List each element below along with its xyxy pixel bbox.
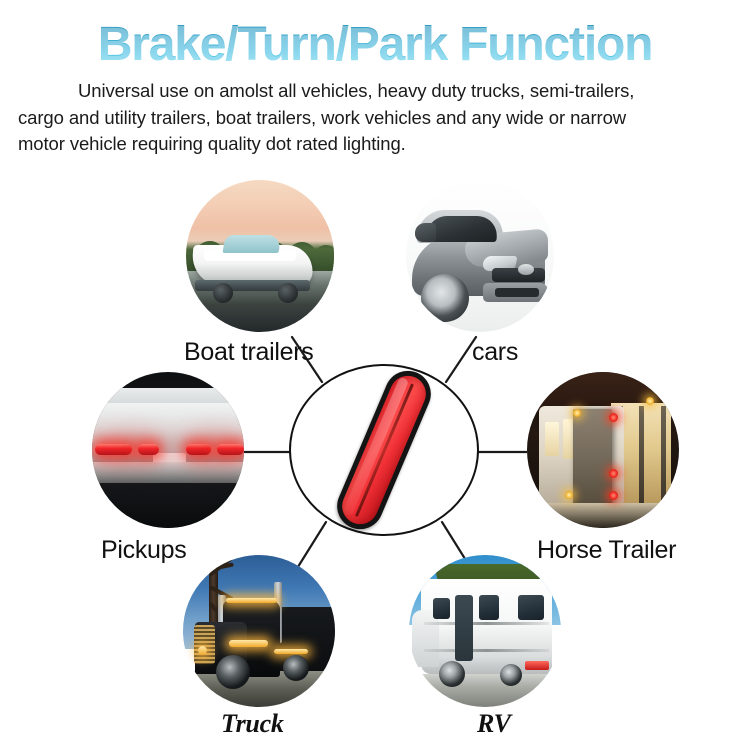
node-boat-trailers[interactable] bbox=[186, 180, 334, 332]
horse-trailer-night-photo bbox=[527, 372, 679, 528]
led-light-bar[interactable] bbox=[330, 364, 438, 537]
label-boat-trailers: Boat trailers bbox=[184, 338, 314, 366]
rv-photo bbox=[409, 555, 561, 707]
hub-and-spoke-diagram: Boat trailers cars bbox=[0, 0, 750, 750]
node-cars[interactable] bbox=[406, 180, 554, 332]
boat-trailer-photo bbox=[186, 180, 334, 332]
label-cars: cars bbox=[472, 338, 518, 366]
label-pickups: Pickups bbox=[101, 536, 186, 564]
pickup-night-photo bbox=[92, 372, 244, 528]
center-hub[interactable] bbox=[289, 364, 479, 536]
car-photo bbox=[406, 180, 554, 332]
semi-truck-photo bbox=[183, 555, 335, 707]
label-rv: RV bbox=[477, 710, 511, 738]
node-pickups[interactable] bbox=[92, 372, 244, 528]
product-infographic: Brake/Turn/Park Function Universal use o… bbox=[0, 0, 750, 750]
node-truck[interactable] bbox=[183, 555, 335, 707]
node-horse-trailer[interactable] bbox=[527, 372, 679, 528]
node-rv[interactable] bbox=[409, 555, 561, 707]
label-truck: Truck bbox=[221, 710, 284, 738]
